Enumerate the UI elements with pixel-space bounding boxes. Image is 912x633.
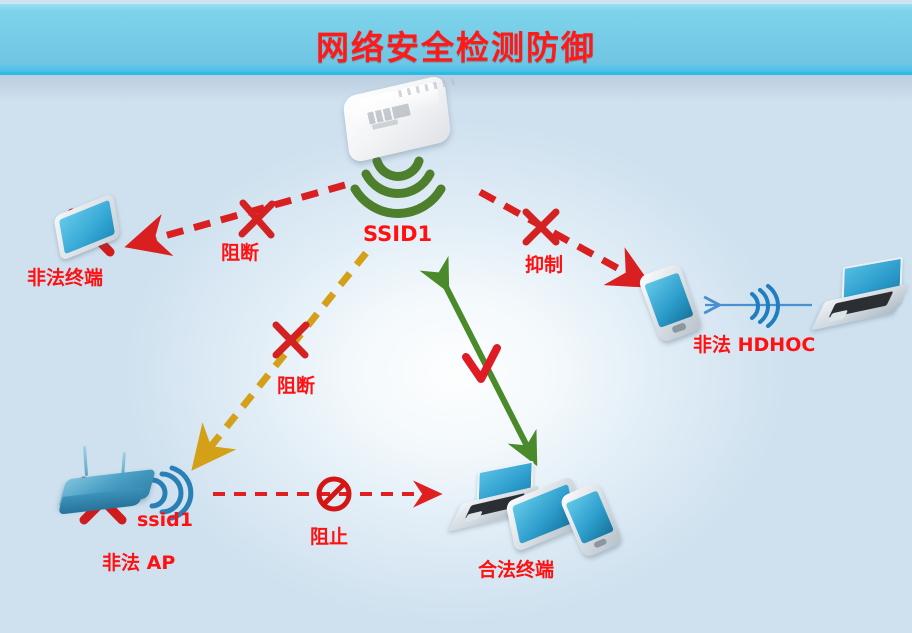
label-illegal-ap: 非法 AP	[102, 548, 175, 575]
label-link-suppress: 抑制	[525, 250, 563, 277]
node-illegal-adhoc-laptop[interactable]	[818, 262, 904, 326]
diagram-canvas: 网络安全检测防御	[0, 0, 912, 633]
label-illegal-adhoc: 非法 HDHOC	[693, 330, 815, 357]
label-ssid1-upper: SSID1	[363, 222, 432, 246]
label-legit-terminals: 合法终端	[478, 555, 554, 582]
label-ssid1-lower: ssid1	[137, 509, 193, 531]
label-link-block-lower: 阻断	[277, 371, 315, 398]
label-link-block-left: 阻断	[221, 238, 259, 265]
ap-signal-waves-icon	[355, 161, 441, 213]
node-illegal-access-point[interactable]	[60, 468, 156, 512]
link-allow-legit-terminals	[440, 275, 528, 448]
link-adhoc-blue	[705, 286, 812, 326]
label-link-prevent: 阻止	[310, 522, 348, 549]
red-x-marker-right	[526, 212, 556, 242]
link-block-illegal-ap	[208, 253, 366, 450]
connectors-layer	[0, 0, 912, 633]
red-x-marker-lower	[276, 325, 306, 355]
label-illegal-terminal: 非法终端	[27, 263, 103, 290]
